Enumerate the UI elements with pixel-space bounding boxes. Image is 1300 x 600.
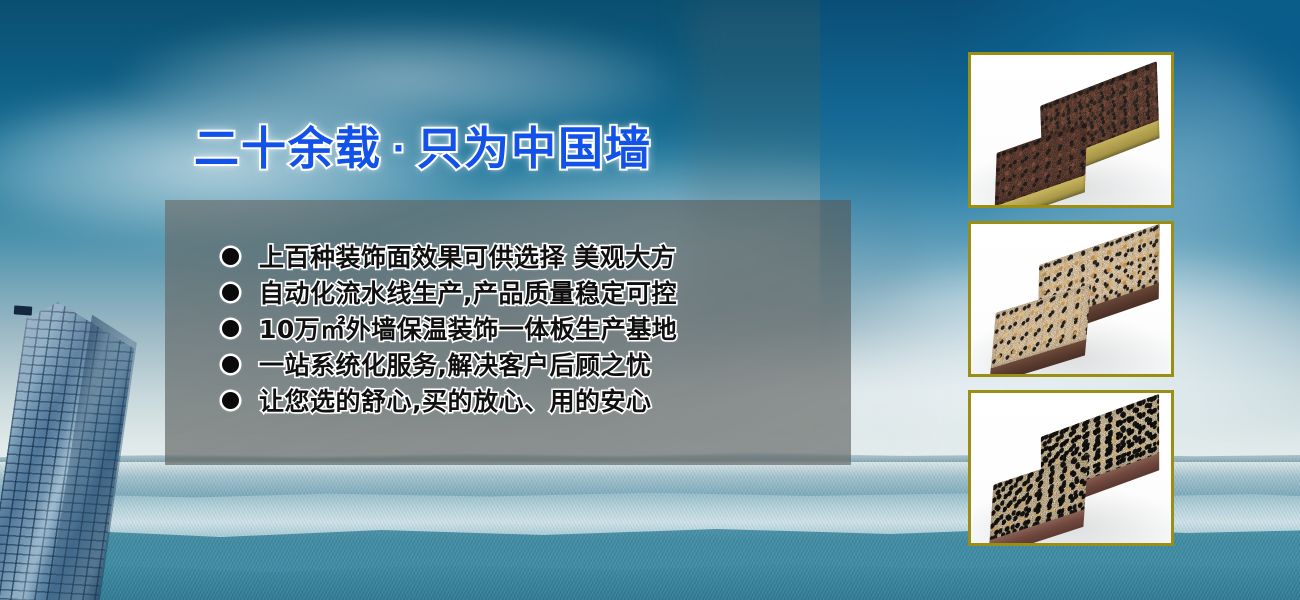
bullet-dot-icon <box>222 248 239 265</box>
list-item: 让您选的舒心,买的放心、用的安心 <box>222 382 842 418</box>
granite-rockwool-panel-photo[interactable] <box>968 52 1174 208</box>
promo-banner: 二十余载·只为中国墙 上百种装饰面效果可供选择 美观大方 自动化流水线生产,产品… <box>0 0 1300 600</box>
glass-skyscraper <box>0 300 116 600</box>
feature-list: 上百种装饰面效果可供选择 美观大方 自动化流水线生产,产品质量稳定可控 10万㎡… <box>222 238 842 418</box>
bullet-dot-icon <box>222 320 239 337</box>
photo-backdrop <box>971 224 1171 374</box>
photo-backdrop <box>971 393 1171 543</box>
bullet-dot-icon <box>222 284 239 301</box>
list-item: 一站系统化服务,解决客户后顾之忧 <box>222 346 842 382</box>
headline-part-2: 只为中国墙 <box>417 122 652 175</box>
list-item: 自动化流水线生产,产品质量稳定可控 <box>222 274 842 310</box>
black-speckle-panel-photo[interactable] <box>968 390 1174 546</box>
beige-speckle-panel-photo[interactable] <box>968 221 1174 377</box>
photo-backdrop <box>971 55 1171 205</box>
tower-roof-unit <box>14 305 33 315</box>
panel-slab-lower <box>989 454 1088 541</box>
list-item: 上百种装饰面效果可供选择 美观大方 <box>222 238 842 274</box>
headline-part-1: 二十余载 <box>194 122 382 175</box>
headline-separator-dot: · <box>382 129 417 169</box>
list-item-label: 10万㎡外墙保温装饰一体板生产基地 <box>259 310 677 346</box>
list-item-label: 上百种装饰面效果可供选择 美观大方 <box>259 238 676 274</box>
list-item: 10万㎡外墙保温装饰一体板生产基地 <box>222 310 842 346</box>
list-item-label: 让您选的舒心,买的放心、用的安心 <box>259 382 652 418</box>
page-title: 二十余载·只为中国墙 <box>194 123 652 175</box>
bullet-dot-icon <box>222 356 239 373</box>
list-item-label: 一站系统化服务,解决客户后顾之忧 <box>259 346 652 382</box>
product-thumbnail-list <box>968 52 1174 559</box>
list-item-label: 自动化流水线生产,产品质量稳定可控 <box>259 274 677 310</box>
bullet-dot-icon <box>222 392 239 409</box>
